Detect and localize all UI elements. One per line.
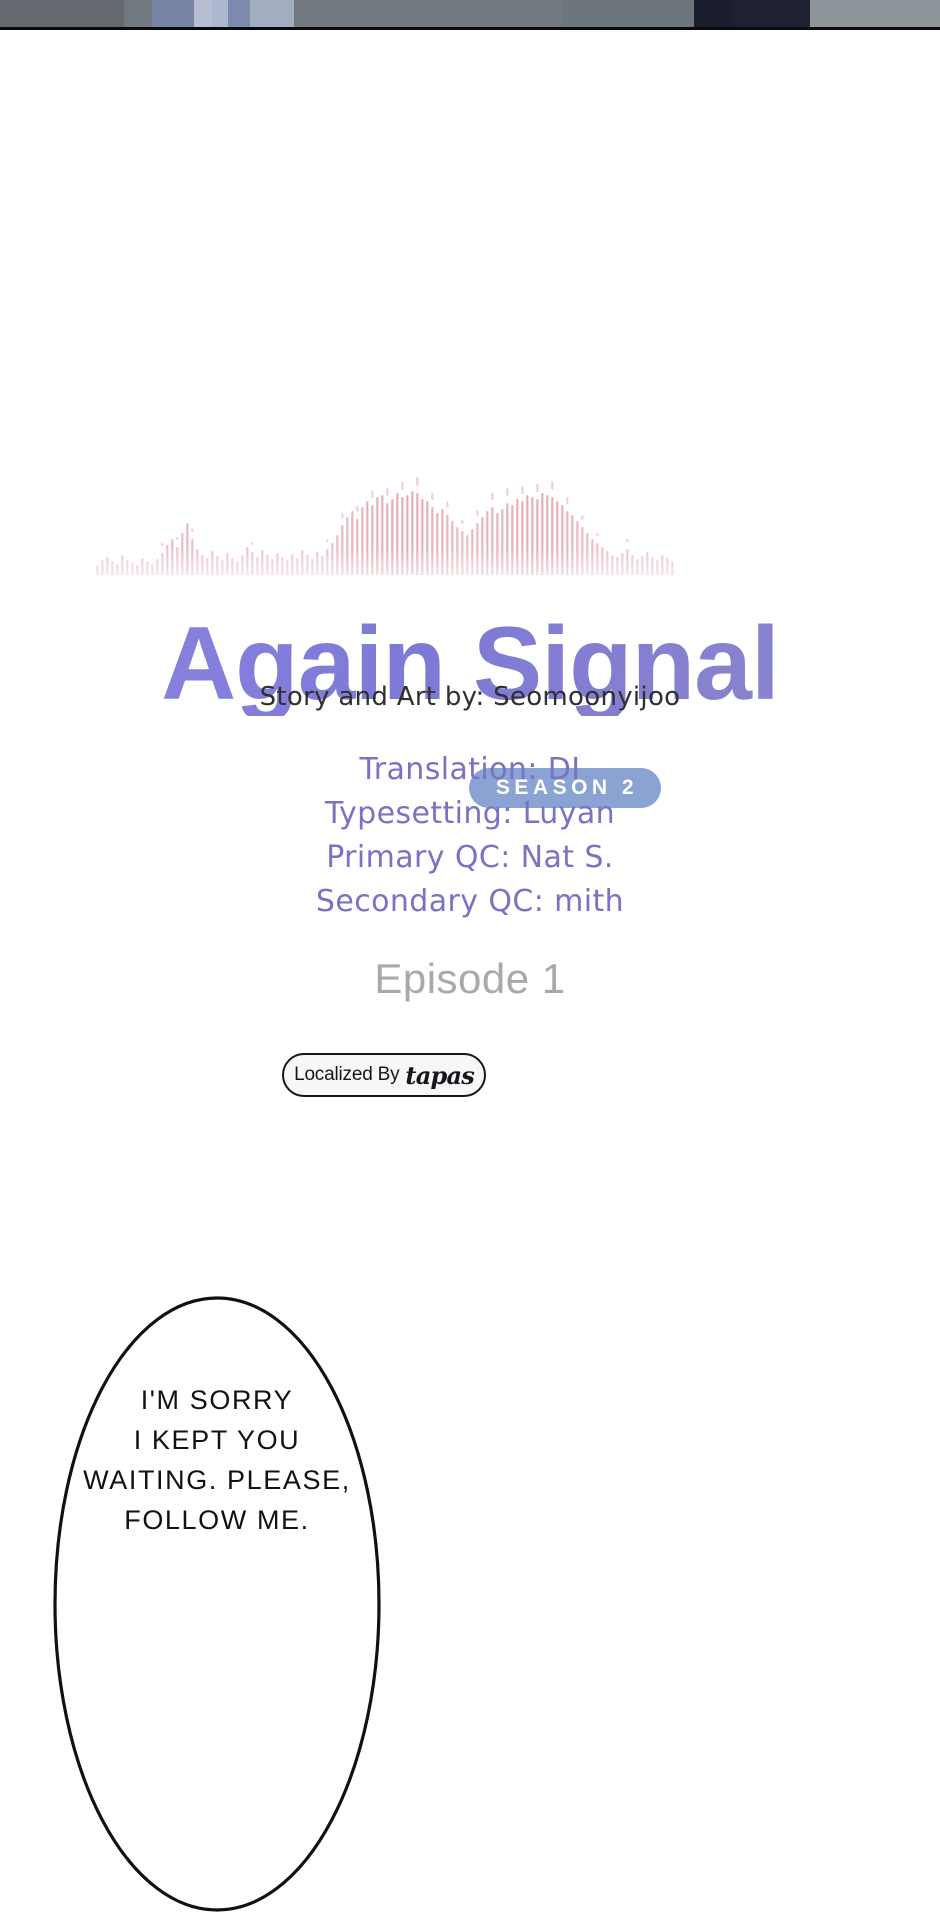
tapas-wordmark: tapas (405, 1061, 473, 1090)
facade-pane (212, 0, 228, 28)
staff-credits: Translation: DI Typesetting: Luyan Prima… (0, 748, 940, 924)
scene-strip-top (0, 0, 940, 30)
waveform-container (95, 465, 675, 575)
facade-pane (250, 0, 294, 28)
facade-pane (228, 0, 250, 28)
author-credit: Story and Art by: Seomoonyijoo (0, 682, 940, 712)
credit-typesetting: Typesetting: Luyan (0, 792, 940, 836)
localized-by-badge: Localized By tapas (282, 1053, 486, 1097)
credit-primary-qc: Primary QC: Nat S. (0, 836, 940, 880)
facade-pane (810, 0, 940, 28)
facade-pane (294, 0, 562, 28)
episode-label: Episode 1 (0, 955, 940, 1003)
facade-pane (194, 0, 212, 28)
facade-pane (152, 0, 194, 28)
credit-translation: Translation: DI (0, 748, 940, 792)
dialogue-line-1: I'M SORRY (52, 1380, 382, 1420)
facade-pane (694, 0, 732, 28)
facade-pane (0, 0, 124, 28)
facade-pane (732, 0, 810, 28)
scene-baseline (0, 27, 940, 30)
dialogue-line-4: FOLLOW ME. (52, 1500, 382, 1540)
facade-pane (562, 0, 694, 28)
localized-by-label: Localized By (294, 1064, 399, 1086)
credit-secondary-qc: Secondary QC: mith (0, 880, 940, 924)
audio-waveform-graphic (95, 465, 675, 575)
dialogue-line-2: I KEPT YOU (52, 1420, 382, 1460)
dialogue-text: I'M SORRY I KEPT YOU WAITING. PLEASE, FO… (52, 1380, 382, 1540)
dialogue-bubble: I'M SORRY I KEPT YOU WAITING. PLEASE, FO… (52, 1295, 382, 1914)
dialogue-line-3: WAITING. PLEASE, (52, 1460, 382, 1500)
